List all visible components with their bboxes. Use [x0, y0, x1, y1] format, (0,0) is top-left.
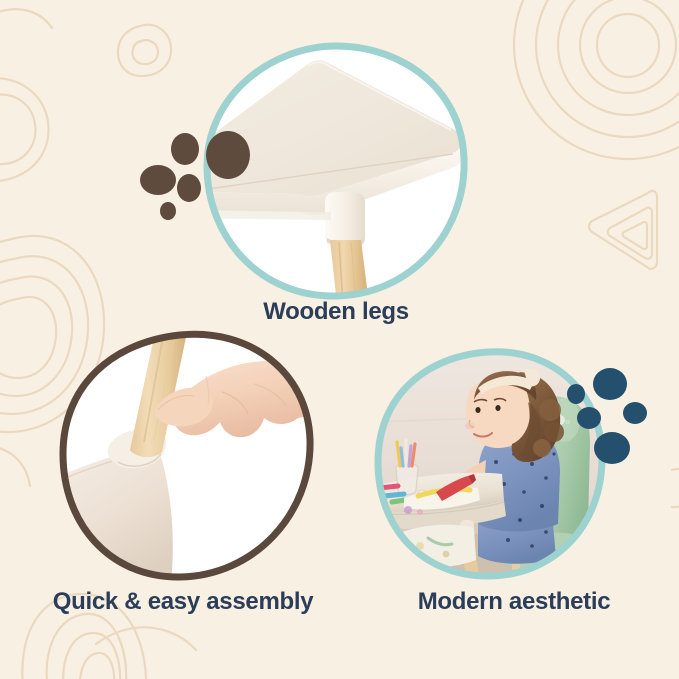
organic-blob-left-upper: [0, 78, 48, 181]
arc-line-bottom-left-upper: [96, 627, 196, 650]
brown-accent-dots: [132, 122, 250, 232]
caption-wooden-legs: Wooden legs: [203, 298, 469, 326]
navy-accent-dots: [562, 362, 668, 468]
small-blob-right-lower: [672, 469, 679, 507]
caption-quick-assembly: Quick & easy assembly: [8, 588, 358, 616]
arc-lines-left-mid: [0, 446, 30, 486]
arc-line-top-left: [0, 9, 52, 28]
caption-modern-aesthetic: Modern aesthetic: [368, 588, 660, 616]
infographic-canvas: Wooden legs: [0, 0, 679, 679]
small-blob-top-left: [118, 25, 171, 76]
feature-card-quick-assembly: [58, 330, 316, 582]
quick-assembly-photo: [58, 330, 316, 582]
concentric-circles-top-right: [514, 0, 679, 159]
concentric-triangles-right: [589, 191, 657, 269]
